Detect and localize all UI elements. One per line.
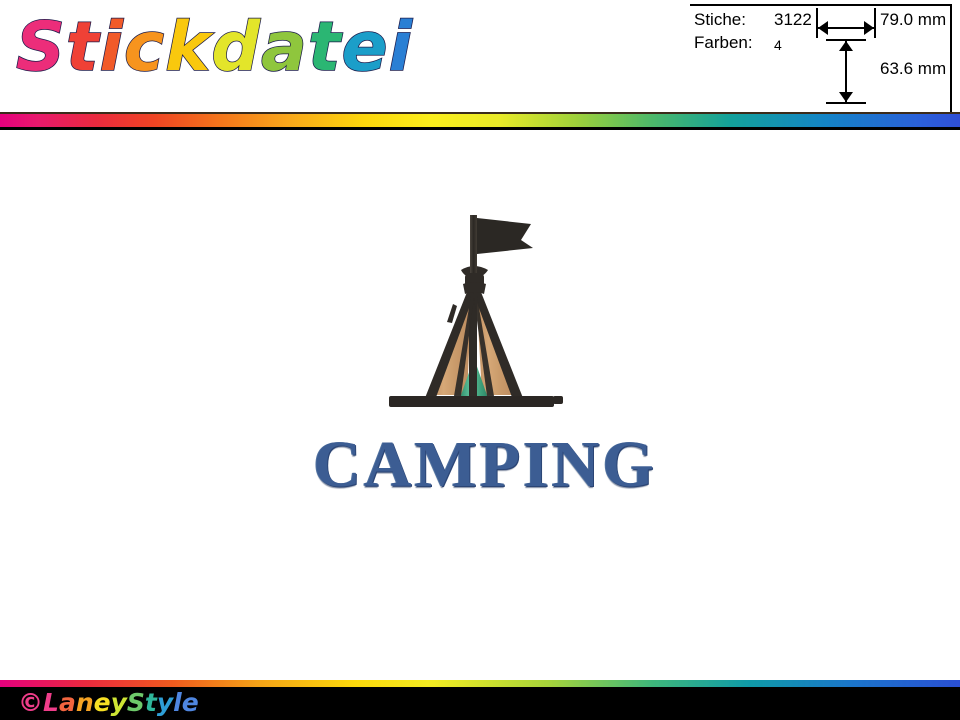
camping-text: CAMPING — [300, 432, 670, 498]
rainbow-divider — [0, 112, 960, 130]
tent-ground-peg — [553, 396, 563, 404]
title-letter: d — [211, 8, 261, 87]
flag-pole — [470, 215, 477, 273]
title-letter: t — [308, 8, 342, 87]
width-dimension-right-tick — [874, 8, 876, 38]
design-height-value: 63.6 mm — [880, 59, 946, 79]
height-arrow-up-icon — [839, 41, 853, 51]
divider-rainbow-gradient — [0, 114, 960, 127]
title-letter: a — [261, 8, 308, 87]
copyright-part: L — [43, 688, 59, 717]
copyright-part: e — [94, 688, 111, 717]
copyright-part: t — [145, 688, 157, 717]
title-letter: i — [100, 8, 124, 87]
title-letter: i — [389, 8, 413, 87]
design-canvas: CAMPING — [0, 130, 960, 680]
width-arrow-right-icon — [864, 21, 874, 35]
page-footer: ©LaneyStyle — [0, 680, 960, 720]
stitches-value: 3122 — [774, 10, 812, 30]
page-header: Stickdatei Stiche: 3122 Farben: 4 79.0 m… — [0, 0, 960, 114]
colors-label: Farben: — [694, 33, 753, 53]
copyright-part: l — [173, 688, 182, 717]
stitches-label: Stiche: — [694, 10, 746, 30]
title-letter: k — [165, 8, 211, 87]
copyright-text: ©LaneyStyle — [18, 690, 199, 715]
copyright-part: y — [111, 688, 127, 717]
copyright-part: S — [127, 688, 145, 717]
copyright-part: e — [182, 688, 199, 717]
colors-value: 4 — [774, 37, 782, 53]
tent-ground-bar — [389, 396, 554, 407]
copyright-part: © — [18, 688, 43, 717]
page-title: Stickdatei — [16, 14, 413, 82]
width-arrow-left-icon — [818, 21, 828, 35]
height-arrow-down-icon — [839, 92, 853, 102]
copyright-part: n — [76, 688, 94, 717]
design-width-value: 79.0 mm — [880, 10, 946, 30]
tent-side-detail — [447, 304, 457, 323]
copyright-part: y — [157, 688, 173, 717]
title-letter: e — [341, 8, 388, 87]
design-info-box: Stiche: 3122 Farben: 4 79.0 mm 63.6 mm — [690, 4, 952, 114]
footer-rainbow-line — [0, 680, 960, 687]
stickdatei-preview-page: Stickdatei Stiche: 3122 Farben: 4 79.0 m… — [0, 0, 960, 720]
tent-icon — [375, 210, 575, 425]
copyright-part: a — [59, 688, 76, 717]
title-letter: c — [124, 8, 165, 87]
flag — [477, 218, 533, 254]
title-letter: t — [66, 8, 100, 87]
embroidery-design: CAMPING — [300, 210, 670, 540]
title-letter: S — [16, 8, 66, 87]
